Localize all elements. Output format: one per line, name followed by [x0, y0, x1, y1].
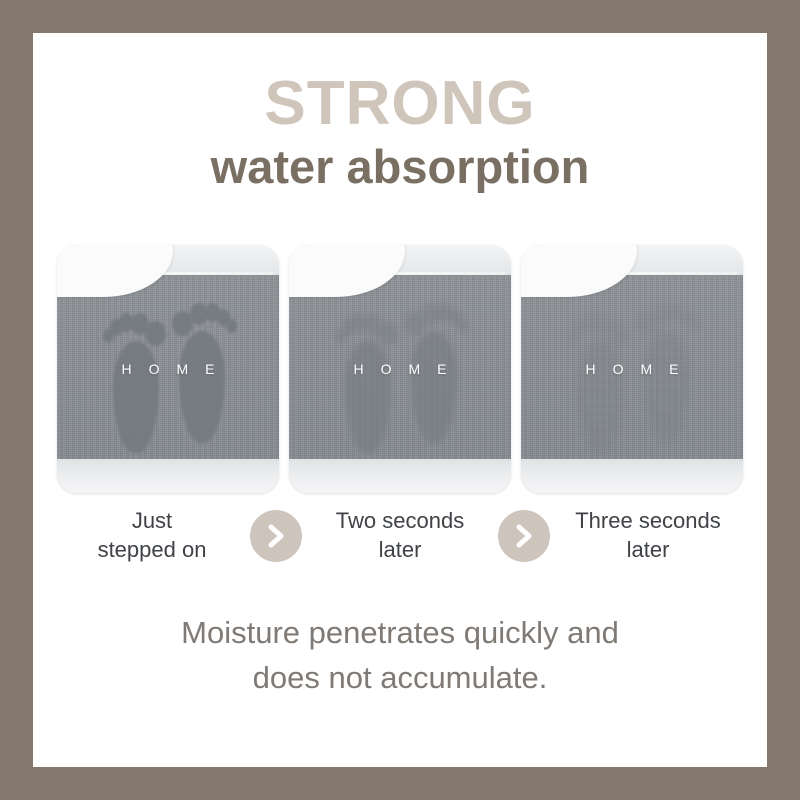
left-footprint — [341, 307, 403, 457]
bath-mat-image: HOME — [289, 245, 511, 493]
arrow-slot-1 — [247, 510, 305, 562]
tagline-line-2: does not accumulate. — [33, 656, 767, 701]
infographic-card: STRONG water absorption — [33, 33, 767, 767]
mat-bottom-trim — [57, 459, 279, 493]
mat-panel-two-seconds-later: HOME — [289, 245, 511, 493]
chevron-right-icon — [250, 510, 302, 562]
mat-wordmark: HOME — [521, 361, 743, 377]
tagline-line-1: Moisture penetrates quickly and — [33, 611, 767, 656]
mat-wordmark: HOME — [289, 361, 511, 377]
caption-just-stepped-on: Juststepped on — [57, 507, 247, 564]
caption-row: Juststepped on Two secondslater Three se… — [57, 505, 743, 567]
left-footprint — [573, 307, 635, 457]
caption-three-seconds-later: Three secondslater — [553, 507, 743, 564]
bath-mat-image: HOME — [521, 245, 743, 493]
mat-panel-row: HOME — [57, 245, 743, 493]
chevron-right-icon — [498, 510, 550, 562]
arrow-slot-2 — [495, 510, 553, 562]
headline-primary: STRONG — [33, 73, 767, 135]
tagline-block: Moisture penetrates quickly and does not… — [33, 611, 767, 701]
mat-panel-three-seconds-later: HOME — [521, 245, 743, 493]
bath-mat-image: HOME — [57, 245, 279, 493]
mat-panel-just-stepped-on: HOME — [57, 245, 279, 493]
mat-bottom-trim — [289, 459, 511, 493]
mat-wordmark: HOME — [57, 361, 279, 377]
caption-two-seconds-later: Two secondslater — [305, 507, 495, 564]
left-footprint — [109, 307, 171, 457]
headline-block: STRONG water absorption — [33, 73, 767, 194]
mat-bottom-trim — [521, 459, 743, 493]
headline-secondary: water absorption — [33, 139, 767, 194]
